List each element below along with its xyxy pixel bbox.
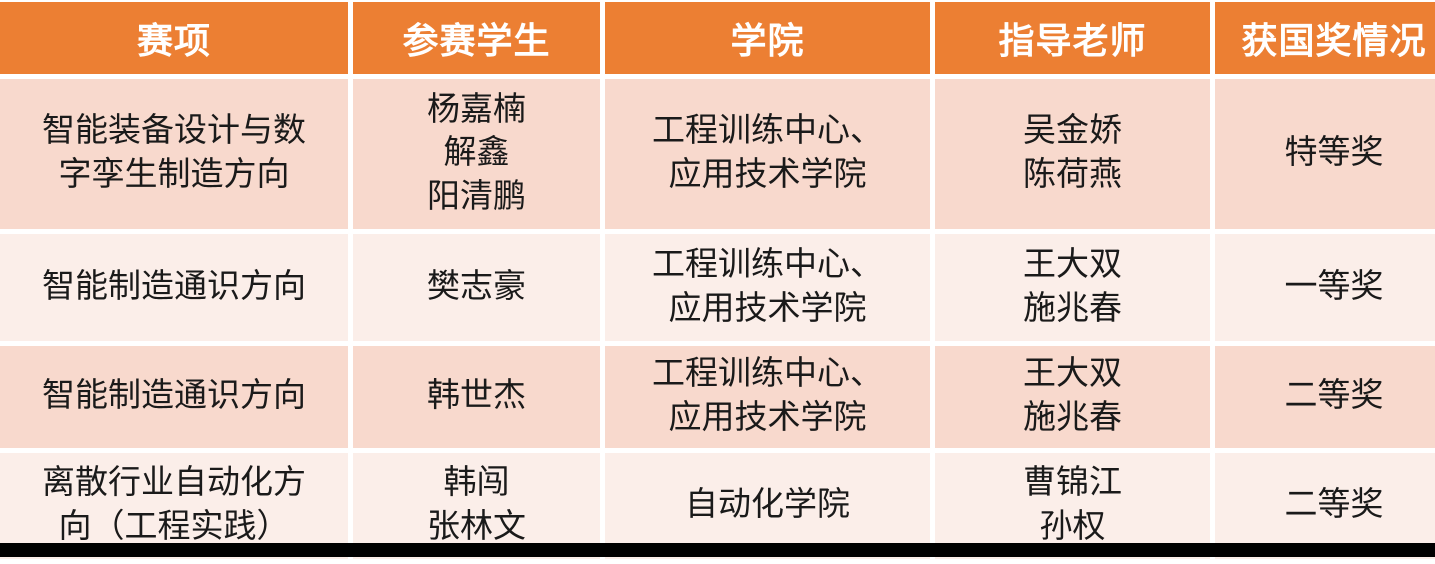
cell-students: 杨嘉楠 解鑫 阳清鹏 bbox=[353, 79, 600, 229]
table-row: 智能装备设计与数 字孪生制造方向 杨嘉楠 解鑫 阳清鹏 工程训练中心、 应用技术… bbox=[0, 79, 1435, 229]
cell-project: 智能制造通识方向 bbox=[0, 234, 348, 341]
cell-college: 工程训练中心、 应用技术学院 bbox=[605, 234, 930, 341]
table-header-row: 赛项 参赛学生 学院 指导老师 获国奖情况 bbox=[0, 2, 1435, 74]
table-row: 智能制造通识方向 樊志豪 工程训练中心、 应用技术学院 王大双 施兆春 一等奖 bbox=[0, 234, 1435, 341]
cell-award: 特等奖 bbox=[1215, 79, 1435, 229]
award-table-container: 赛项 参赛学生 学院 指导老师 获国奖情况 智能装备设计与数 字孪生制造方向 杨… bbox=[0, 0, 1435, 557]
cell-college: 工程训练中心、 应用技术学院 bbox=[605, 346, 930, 448]
cell-project: 智能制造通识方向 bbox=[0, 346, 348, 448]
bottom-black-bar bbox=[0, 543, 1435, 557]
cell-project: 智能装备设计与数 字孪生制造方向 bbox=[0, 79, 348, 229]
cell-award: 一等奖 bbox=[1215, 234, 1435, 341]
column-header-award: 获国奖情况 bbox=[1215, 2, 1435, 74]
table-body: 智能装备设计与数 字孪生制造方向 杨嘉楠 解鑫 阳清鹏 工程训练中心、 应用技术… bbox=[0, 79, 1435, 559]
cell-students: 樊志豪 bbox=[353, 234, 600, 341]
cell-students: 韩世杰 bbox=[353, 346, 600, 448]
column-header-college: 学院 bbox=[605, 2, 930, 74]
table-header: 赛项 参赛学生 学院 指导老师 获国奖情况 bbox=[0, 2, 1435, 74]
table-row: 智能制造通识方向 韩世杰 工程训练中心、 应用技术学院 王大双 施兆春 二等奖 bbox=[0, 346, 1435, 448]
cell-award: 二等奖 bbox=[1215, 346, 1435, 448]
cell-advisors: 王大双 施兆春 bbox=[935, 234, 1210, 341]
column-header-advisors: 指导老师 bbox=[935, 2, 1210, 74]
cell-advisors: 王大双 施兆春 bbox=[935, 346, 1210, 448]
column-header-students: 参赛学生 bbox=[353, 2, 600, 74]
column-header-project: 赛项 bbox=[0, 2, 348, 74]
national-award-table: 赛项 参赛学生 学院 指导老师 获国奖情况 智能装备设计与数 字孪生制造方向 杨… bbox=[0, 0, 1435, 564]
cell-college: 工程训练中心、 应用技术学院 bbox=[605, 79, 930, 229]
cell-advisors: 吴金娇 陈荷燕 bbox=[935, 79, 1210, 229]
